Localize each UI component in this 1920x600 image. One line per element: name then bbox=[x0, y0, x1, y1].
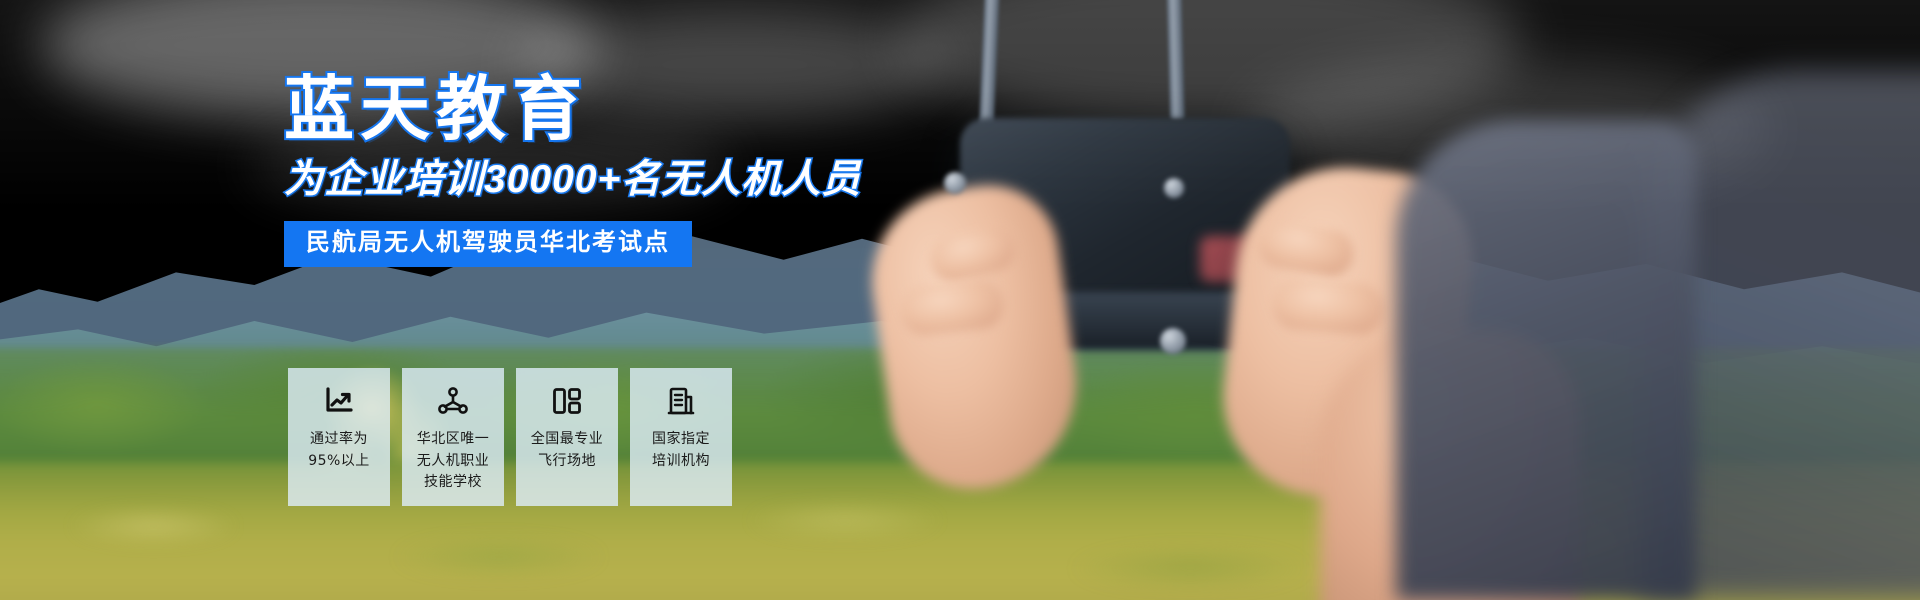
chart-growth-icon bbox=[322, 384, 356, 418]
feature-card-certified-org[interactable]: 国家指定 培训机构 bbox=[630, 368, 732, 506]
cloud-shape bbox=[1250, 60, 1770, 200]
banner-text-block: 蓝天教育 为企业培训30000+名无人机人员 民航局无人机驾驶员华北考试点 bbox=[284, 74, 1044, 267]
banner-title: 蓝天教育 bbox=[284, 74, 1044, 144]
feature-card-only-school[interactable]: 华北区唯一 无人机职业 技能学校 bbox=[402, 368, 504, 506]
hero-banner: 蓝天教育 为企业培训30000+名无人机人员 民航局无人机驾驶员华北考试点 通过… bbox=[0, 0, 1920, 600]
feature-card-flight-field[interactable]: 全国最专业 飞行场地 bbox=[516, 368, 618, 506]
network-nodes-icon bbox=[436, 384, 470, 418]
building-icon bbox=[664, 384, 698, 418]
feature-card-label: 通过率为 95%以上 bbox=[308, 429, 370, 472]
layout-panels-icon bbox=[550, 384, 584, 418]
feature-card-pass-rate[interactable]: 通过率为 95%以上 bbox=[288, 368, 390, 506]
feature-card-label: 华北区唯一 无人机职业 技能学校 bbox=[417, 429, 490, 494]
feature-card-label: 国家指定 培训机构 bbox=[652, 429, 710, 472]
banner-subtitle: 为企业培训30000+名无人机人员 bbox=[284, 160, 1044, 199]
feature-card-label: 全国最专业 飞行场地 bbox=[531, 429, 604, 472]
feature-card-list: 通过率为 95%以上 华北区唯一 无人机职业 技能学校 bbox=[288, 368, 732, 506]
banner-badge: 民航局无人机驾驶员华北考试点 bbox=[284, 221, 692, 267]
